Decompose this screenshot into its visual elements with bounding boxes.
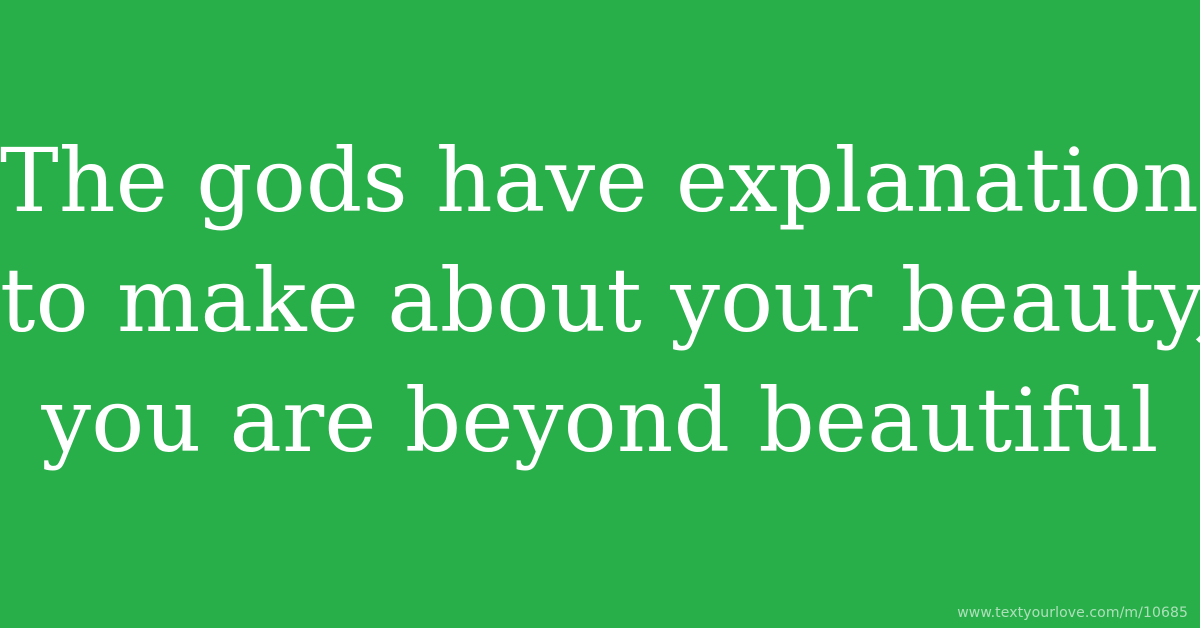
watermark-url: www.textyourlove.com/m/10685 — [957, 604, 1188, 622]
quote-line-2: to make about your beauty, — [0, 241, 1200, 361]
quote-line-3: you are beyond beautiful — [0, 361, 1200, 481]
quote-line-1: The gods have explanations — [0, 121, 1200, 241]
quote-text-block: The gods have explanations to make about… — [0, 0, 1200, 628]
quote-card: The gods have explanations to make about… — [0, 0, 1200, 628]
